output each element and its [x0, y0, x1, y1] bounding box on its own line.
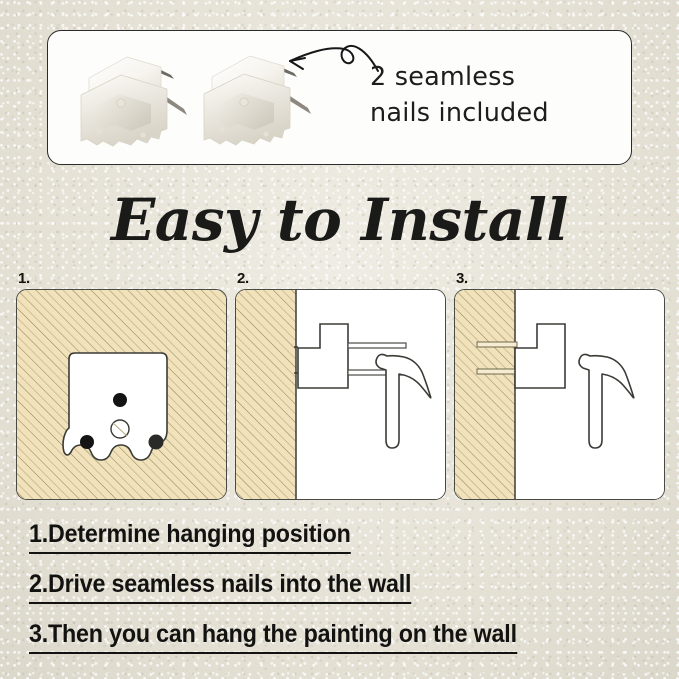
product-caption-line-2: nails included — [370, 95, 615, 131]
step-panel-determine-position — [16, 289, 227, 500]
step-2-number: 2. — [237, 270, 249, 287]
step-2: 2. — [235, 272, 446, 500]
wall-hatch-icon — [236, 290, 296, 499]
step-panel-drive-nails — [235, 289, 446, 500]
step-1: 1. — [16, 272, 227, 500]
screw-dot-icon — [113, 393, 127, 407]
screw-dot-icon — [149, 435, 164, 450]
instruction-row-2: 2.Drive seamless nails into the wall — [29, 570, 659, 620]
instruction-2: 2.Drive seamless nails into the wall — [29, 570, 411, 604]
page-title: Easy to Install — [0, 186, 679, 254]
screw-dot-icon — [80, 435, 94, 449]
seamless-nails-product-box: 2 seamless nails included — [47, 30, 632, 165]
seamless-nail-clip-left — [75, 45, 195, 155]
instruction-3: 3.Then you can hang the painting on the … — [29, 620, 517, 654]
curved-loop-arrow-icon — [270, 33, 385, 93]
wall-hatch-icon — [455, 290, 515, 499]
instruction-1: 1.Determine hanging position — [29, 520, 351, 554]
step-panel-hang-painting — [454, 289, 665, 500]
product-caption-line-1: 2 seamless — [370, 59, 615, 95]
instruction-row-1: 1.Determine hanging position — [29, 520, 659, 570]
product-caption: 2 seamless nails included — [370, 59, 615, 131]
instruction-list: 1.Determine hanging position 2.Drive sea… — [29, 520, 659, 670]
instruction-row-3: 3.Then you can hang the painting on the … — [29, 620, 659, 670]
step-1-number: 1. — [18, 270, 30, 287]
step-3-number: 3. — [456, 270, 468, 287]
step-3: 3. — [454, 272, 665, 500]
